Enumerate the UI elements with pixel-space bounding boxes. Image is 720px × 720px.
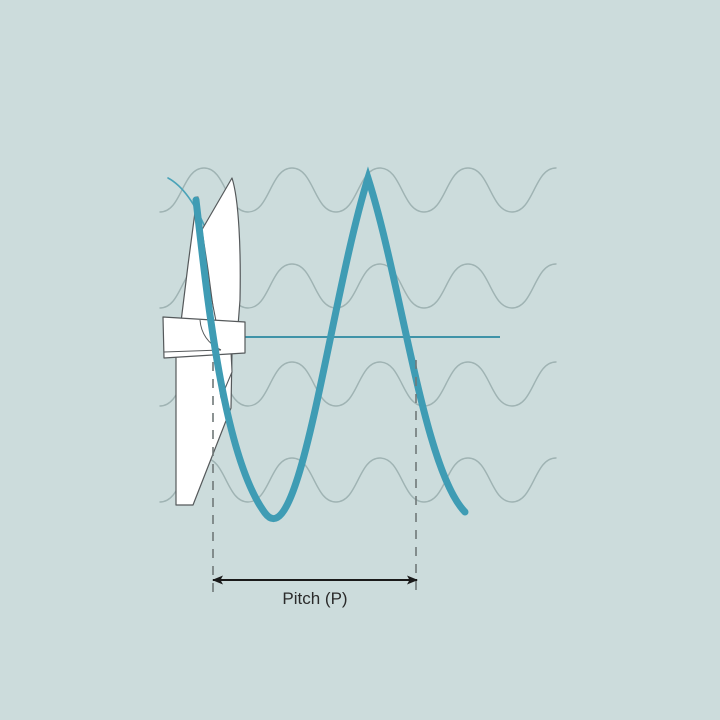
diagram-canvas: Pitch (P) [0,0,720,720]
propeller-assembly [163,178,245,505]
background-wave-row-4 [160,458,556,502]
pitch-label: Pitch (P) [282,589,347,608]
propeller-pitch-svg: Pitch (P) [0,0,720,720]
